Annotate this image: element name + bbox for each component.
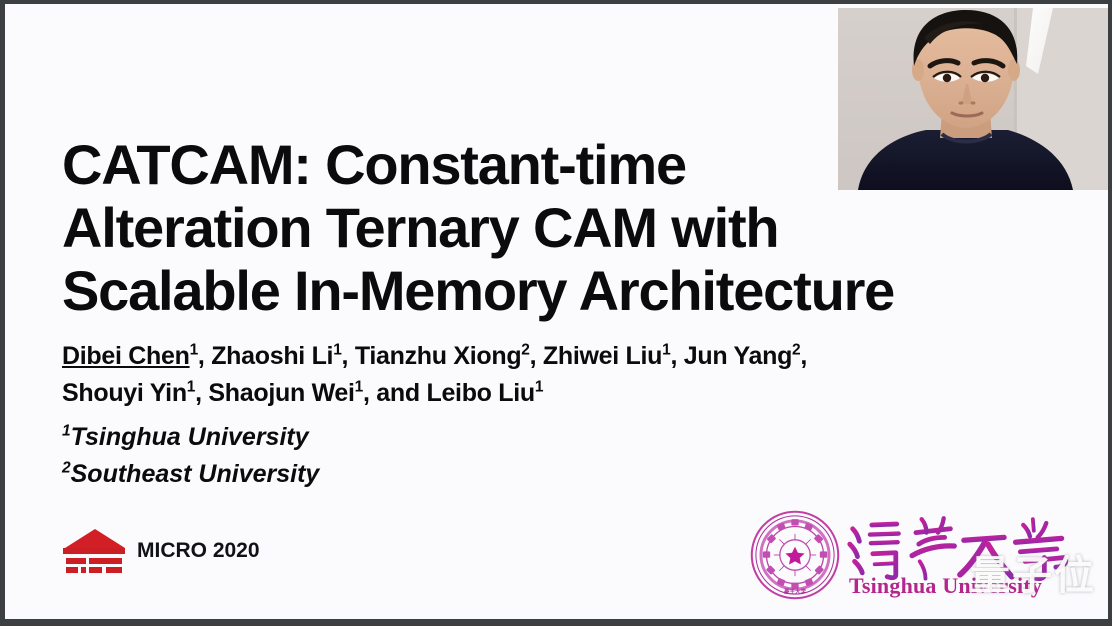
- conference-label: MICRO 2020: [137, 539, 260, 563]
- tsinghua-seal-icon: 豪王大学: [749, 509, 841, 601]
- author-line-1-rest: , Zhaoshi Li1, Tianzhu Xiong2, Zhiwei Li…: [198, 342, 807, 370]
- author-mark: 1: [190, 342, 198, 359]
- webcam-video-frame: [838, 8, 1108, 190]
- author-line-2: Shouyi Yin1, Shaojun Wei1, and Leibo Liu…: [62, 375, 1072, 412]
- slide-canvas: CATCAM: Constant-time Alteration Ternary…: [5, 4, 1108, 619]
- micro-block: [106, 567, 122, 573]
- micro-block: [89, 558, 122, 564]
- presenting-author: Dibei Chen: [62, 342, 190, 370]
- author-mark: 2: [792, 342, 800, 359]
- conference-badge: MICRO 2020: [63, 525, 260, 577]
- affiliation-list: 1Tsinghua University 2Southeast Universi…: [62, 419, 319, 493]
- micro-lintel: [63, 548, 125, 554]
- micro-building-icon: [63, 527, 127, 575]
- affiliation-name: Southeast University: [71, 460, 320, 488]
- micro-block: [66, 558, 86, 564]
- svg-text:豪王大学: 豪王大学: [784, 588, 807, 596]
- author-mark: 1: [187, 379, 195, 396]
- affiliation-name: Tsinghua University: [71, 423, 309, 451]
- micro-block: [66, 567, 78, 573]
- micro-block: [81, 567, 86, 573]
- author-mark: 1: [535, 379, 543, 396]
- micro-block: [89, 567, 102, 573]
- author-mark: 1: [662, 342, 670, 359]
- affiliation-mark: 2: [62, 460, 71, 477]
- affiliation-item: 1Tsinghua University: [62, 419, 319, 456]
- author-mark: 1: [333, 342, 341, 359]
- author-mark: 1: [355, 379, 363, 396]
- presenter-webcam[interactable]: [838, 8, 1108, 190]
- affiliation-mark: 1: [62, 423, 71, 440]
- author-list: Dibei Chen1, Zhaoshi Li1, Tianzhu Xiong2…: [62, 338, 1072, 412]
- university-english-name: Tsinghua University: [849, 573, 1042, 599]
- author-mark: 2: [521, 342, 529, 359]
- micro-roof: [65, 529, 125, 548]
- author-line-1: Dibei Chen1, Zhaoshi Li1, Tianzhu Xiong2…: [62, 338, 1072, 375]
- university-logo: 豪王大学: [749, 507, 1079, 619]
- affiliation-item: 2Southeast University: [62, 456, 319, 493]
- presentation-window: CATCAM: Constant-time Alteration Ternary…: [0, 0, 1112, 626]
